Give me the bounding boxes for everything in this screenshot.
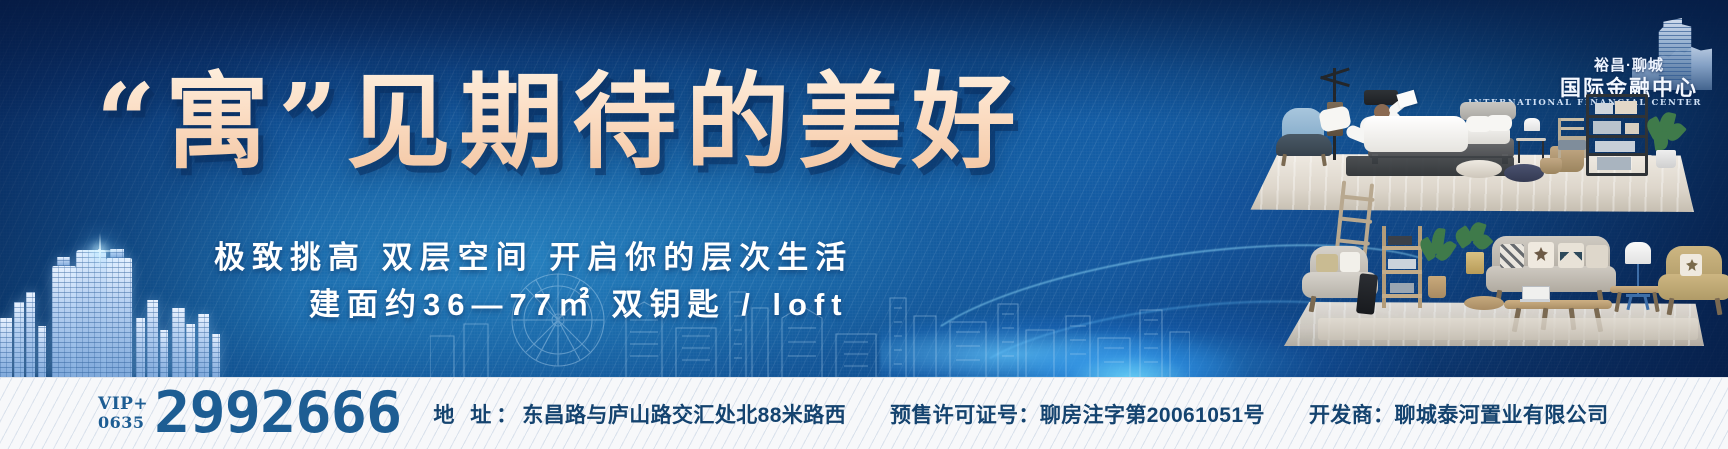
- laptop: [1520, 286, 1550, 302]
- sofa-main: [1486, 236, 1616, 306]
- vip-label: VIP+: [98, 395, 148, 414]
- potted-plant-tall: [1420, 228, 1454, 302]
- bed: [1364, 102, 1516, 164]
- real-estate-banner: “寓”见期待的美好 极致挑高 双层空间 开启你的层次生活 建面约36—77㎡ 双…: [0, 0, 1728, 449]
- contact-info-bar: VIP+ 0635 2992666 地 址：东昌路与庐山路交汇处北88米路西 预…: [0, 377, 1728, 449]
- accent-chair-upper: [1556, 118, 1590, 166]
- permit-label: 预售许可证号：: [890, 404, 1040, 427]
- sparkle-icon: [98, 249, 101, 252]
- loft-interior-scene: [1168, 50, 1728, 350]
- developer-value: 聊城泰河置业有限公司: [1394, 404, 1608, 427]
- permit-value: 聊房注字第20061051号: [1040, 404, 1265, 427]
- address-value: 东昌路与庐山路交汇处北88米路西: [522, 404, 846, 427]
- armchair-ochre-right: [1658, 246, 1728, 316]
- potted-plant-upper: [1644, 112, 1684, 168]
- vip-prefix: VIP+ 0635: [98, 395, 148, 432]
- developer-label: 开发商：: [1309, 404, 1395, 427]
- side-table-lower: [1610, 286, 1664, 314]
- info-items: 地 址：东昌路与庐山路交汇处北88米路西 预售许可证号：聊房注字第2006105…: [433, 399, 1652, 429]
- address-label: 地 址：: [433, 404, 522, 427]
- area-code: 0635: [98, 414, 145, 432]
- permit-item: 预售许可证号：聊房注字第20061051号: [890, 399, 1265, 429]
- phone-number[interactable]: 2992666: [154, 385, 401, 442]
- city-skyline-left: [0, 228, 240, 378]
- address-item: 地 址：东昌路与庐山路交汇处北88米路西: [433, 399, 846, 429]
- phone-block[interactable]: VIP+ 0635 2992666: [98, 385, 387, 442]
- page-title: “寓”见期待的美好: [96, 66, 1025, 178]
- subtitle-features: 极致挑高 双层空间 开启你的层次生活: [214, 232, 853, 277]
- rug-lower: [1318, 318, 1698, 340]
- developer-item: 开发商：聊城泰河置业有限公司: [1309, 399, 1609, 429]
- subtitle-area-spec: 建面约36—77㎡ 双钥匙 / loft: [309, 279, 849, 324]
- pouf-navy: [1504, 164, 1544, 182]
- round-ottoman: [1456, 160, 1502, 178]
- side-table-round: [1464, 296, 1504, 310]
- armchair-grey-left: [1302, 246, 1378, 312]
- ladder-bookshelf: [1382, 226, 1424, 308]
- shelving-unit: [1586, 94, 1648, 176]
